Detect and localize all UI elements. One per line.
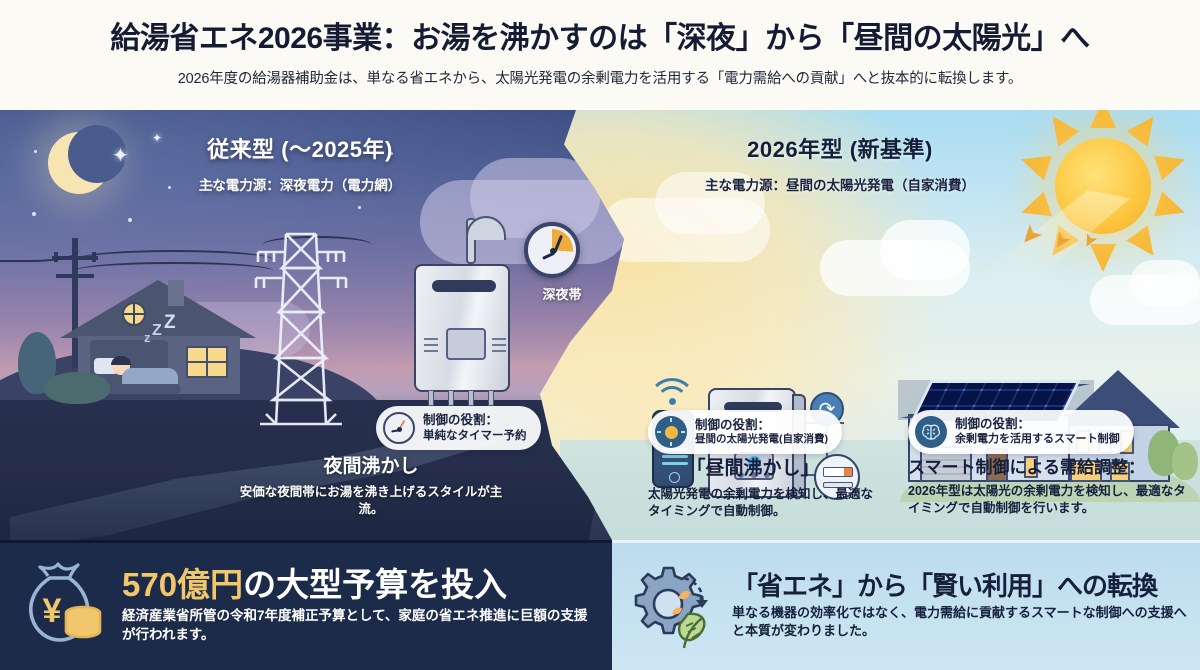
gear-leaf-icon-svg xyxy=(626,556,722,652)
role-pill-left-line2: 単純なタイマー予約 xyxy=(423,429,527,443)
banner-shift-heading: 「省エネ」から「賢い利用」への転換 xyxy=(732,573,1187,600)
brain-icon xyxy=(915,416,947,448)
chimney xyxy=(168,280,184,306)
role-pill-left-line1: 制御の役割： xyxy=(423,413,527,429)
cloud-day-4 xyxy=(1130,260,1200,306)
page-subtitle: 2026年度の給湯器補助金は、単なる省エネから、太陽光発電の余剰電力を活用する「… xyxy=(178,67,1022,88)
clock-icon xyxy=(524,222,580,278)
panel-title-left: 従来型 (〜2025年) 主な電力源：深夜電力（電力網） xyxy=(120,132,480,194)
sun-ray xyxy=(1090,110,1116,128)
role-pill-right-b-line2: 余剰電力を活用するスマート制御 xyxy=(955,433,1120,447)
money-bag-icon: ¥ xyxy=(14,556,110,657)
budget-amount: 570億円 xyxy=(122,566,243,603)
zzz-text: Z xyxy=(164,312,176,334)
caption-right-a-body: 太陽光発電の余剰電力を検知し、最適なタイミングで自動制御。 xyxy=(648,486,878,520)
role-pill-right-a-line1: 制御の役割： xyxy=(695,418,828,434)
gear-leaf-icon xyxy=(626,556,722,657)
night-time-indicator: 深夜帯 xyxy=(516,222,606,314)
role-pill-right-b: 制御の役割： 余剰電力を活用するスマート制御 xyxy=(908,410,1134,454)
transmission-tower xyxy=(246,228,356,428)
star-dot xyxy=(358,206,361,209)
svg-text:¥: ¥ xyxy=(43,592,62,630)
star-dot xyxy=(128,218,132,222)
role-pill-right-b-line1: 制御の役割： xyxy=(955,417,1120,433)
star-dot xyxy=(32,212,36,216)
banner-shift-body: 単なる機器の効率化ではなく、電力需給に貢献するスマートな制御への支援へと本質が変… xyxy=(732,604,1187,640)
page-title: 給湯省エネ2026事業：お湯を沸かすのは「深夜」から「昼間の太陽光」へ xyxy=(110,22,1089,55)
transmission-tower-svg xyxy=(246,228,356,428)
role-pill-left: 制御の役割： 単純なタイマー予約 xyxy=(376,406,541,450)
banner-shift-text: 「省エネ」から「賢い利用」への転換 単なる機器の効率化ではなく、電力需給に貢献す… xyxy=(732,573,1187,641)
tree-night-2 xyxy=(44,372,110,404)
caption-right-b: スマート制御による需給調整： 2026年型は太陽光の余剰電力を検知し、最適なタイ… xyxy=(908,458,1196,517)
money-bag-icon-svg: ¥ xyxy=(14,556,110,652)
water-heater-legacy xyxy=(414,258,510,408)
star-dot xyxy=(34,150,37,153)
sun-icon xyxy=(655,416,687,448)
panel-title-right-sub: 主な電力源：昼間の太陽光発電（自家消費） xyxy=(640,174,1040,194)
panel-title-left-sub: 主な電力源：深夜電力（電力網） xyxy=(120,174,480,194)
banner-budget-heading: 570億円の大型予算を投入 xyxy=(122,568,592,603)
role-pill-right-a: 制御の役割： 昼間の太陽光発電(自家消費) xyxy=(648,410,842,454)
comparison-scene: ➤ ➤ ➤ xyxy=(0,110,1200,540)
zzz-text: z xyxy=(144,330,151,345)
banner-budget-text: 570億円の大型予算を投入 経済産業省所管の令和7年度補正予算として、家庭の省エ… xyxy=(122,568,592,644)
zzz-text: Z xyxy=(152,322,162,340)
wifi-icon xyxy=(648,378,700,404)
banner-shift: 「省エネ」から「賢い利用」への転換 単なる機器の効率化ではなく、電力需給に貢献す… xyxy=(612,540,1200,670)
panel-title-right: 2026年型 (新基準) 主な電力源：昼間の太陽光発電（自家消費） xyxy=(640,132,1040,194)
budget-heading-rest: の大型予算を投入 xyxy=(243,566,507,603)
caption-right-b-heading: スマート制御による需給調整： xyxy=(908,458,1196,478)
caption-right-b-body: 2026年型は太陽光の余剰電力を検知し、最適なタイミングで自動制御を行います。 xyxy=(908,483,1190,517)
moon-icon xyxy=(48,132,110,194)
caption-right-a: 「昼間沸かし」 太陽光発電の余剰電力を検知し、最適なタイミングで自動制御。 xyxy=(648,458,898,520)
caption-right-a-heading: 「昼間沸かし」 xyxy=(648,458,898,481)
caption-left-body: 安価な夜間帯にお湯を沸き上げるスタイルが主流。 xyxy=(196,484,546,518)
cloud-day-2 xyxy=(880,220,970,280)
power-line xyxy=(74,262,274,280)
banner-budget-body: 経済産業省所管の令和7年度補正予算として、家庭の省エネ推進に巨額の支援が行われま… xyxy=(122,607,592,645)
caption-left-heading: 夜間沸かし xyxy=(196,456,546,479)
panel-title-left-main: 従来型 (〜2025年) xyxy=(120,132,480,164)
header: 給湯省エネ2026事業：お湯を沸かすのは「深夜」から「昼間の太陽光」へ 2026… xyxy=(0,0,1200,110)
brain-icon-svg xyxy=(920,422,942,442)
clock-icon xyxy=(383,412,415,444)
infographic-root: 給湯省エネ2026事業：お湯を沸かすのは「深夜」から「昼間の太陽光」へ 2026… xyxy=(0,0,1200,670)
night-band-label: 深夜帯 xyxy=(522,284,602,303)
caption-left: 夜間沸かし 安価な夜間帯にお湯を沸き上げるスタイルが主流。 xyxy=(196,456,546,518)
panel-title-right-main: 2026年型 (新基準) xyxy=(640,132,1040,164)
role-pill-right-a-line2: 昼間の太陽光発電(自家消費) xyxy=(695,433,828,446)
banner-budget: ¥ 570億円の大型予算を投入 経済産業省所管の令和7年度補正予算として、家庭の… xyxy=(0,540,612,670)
